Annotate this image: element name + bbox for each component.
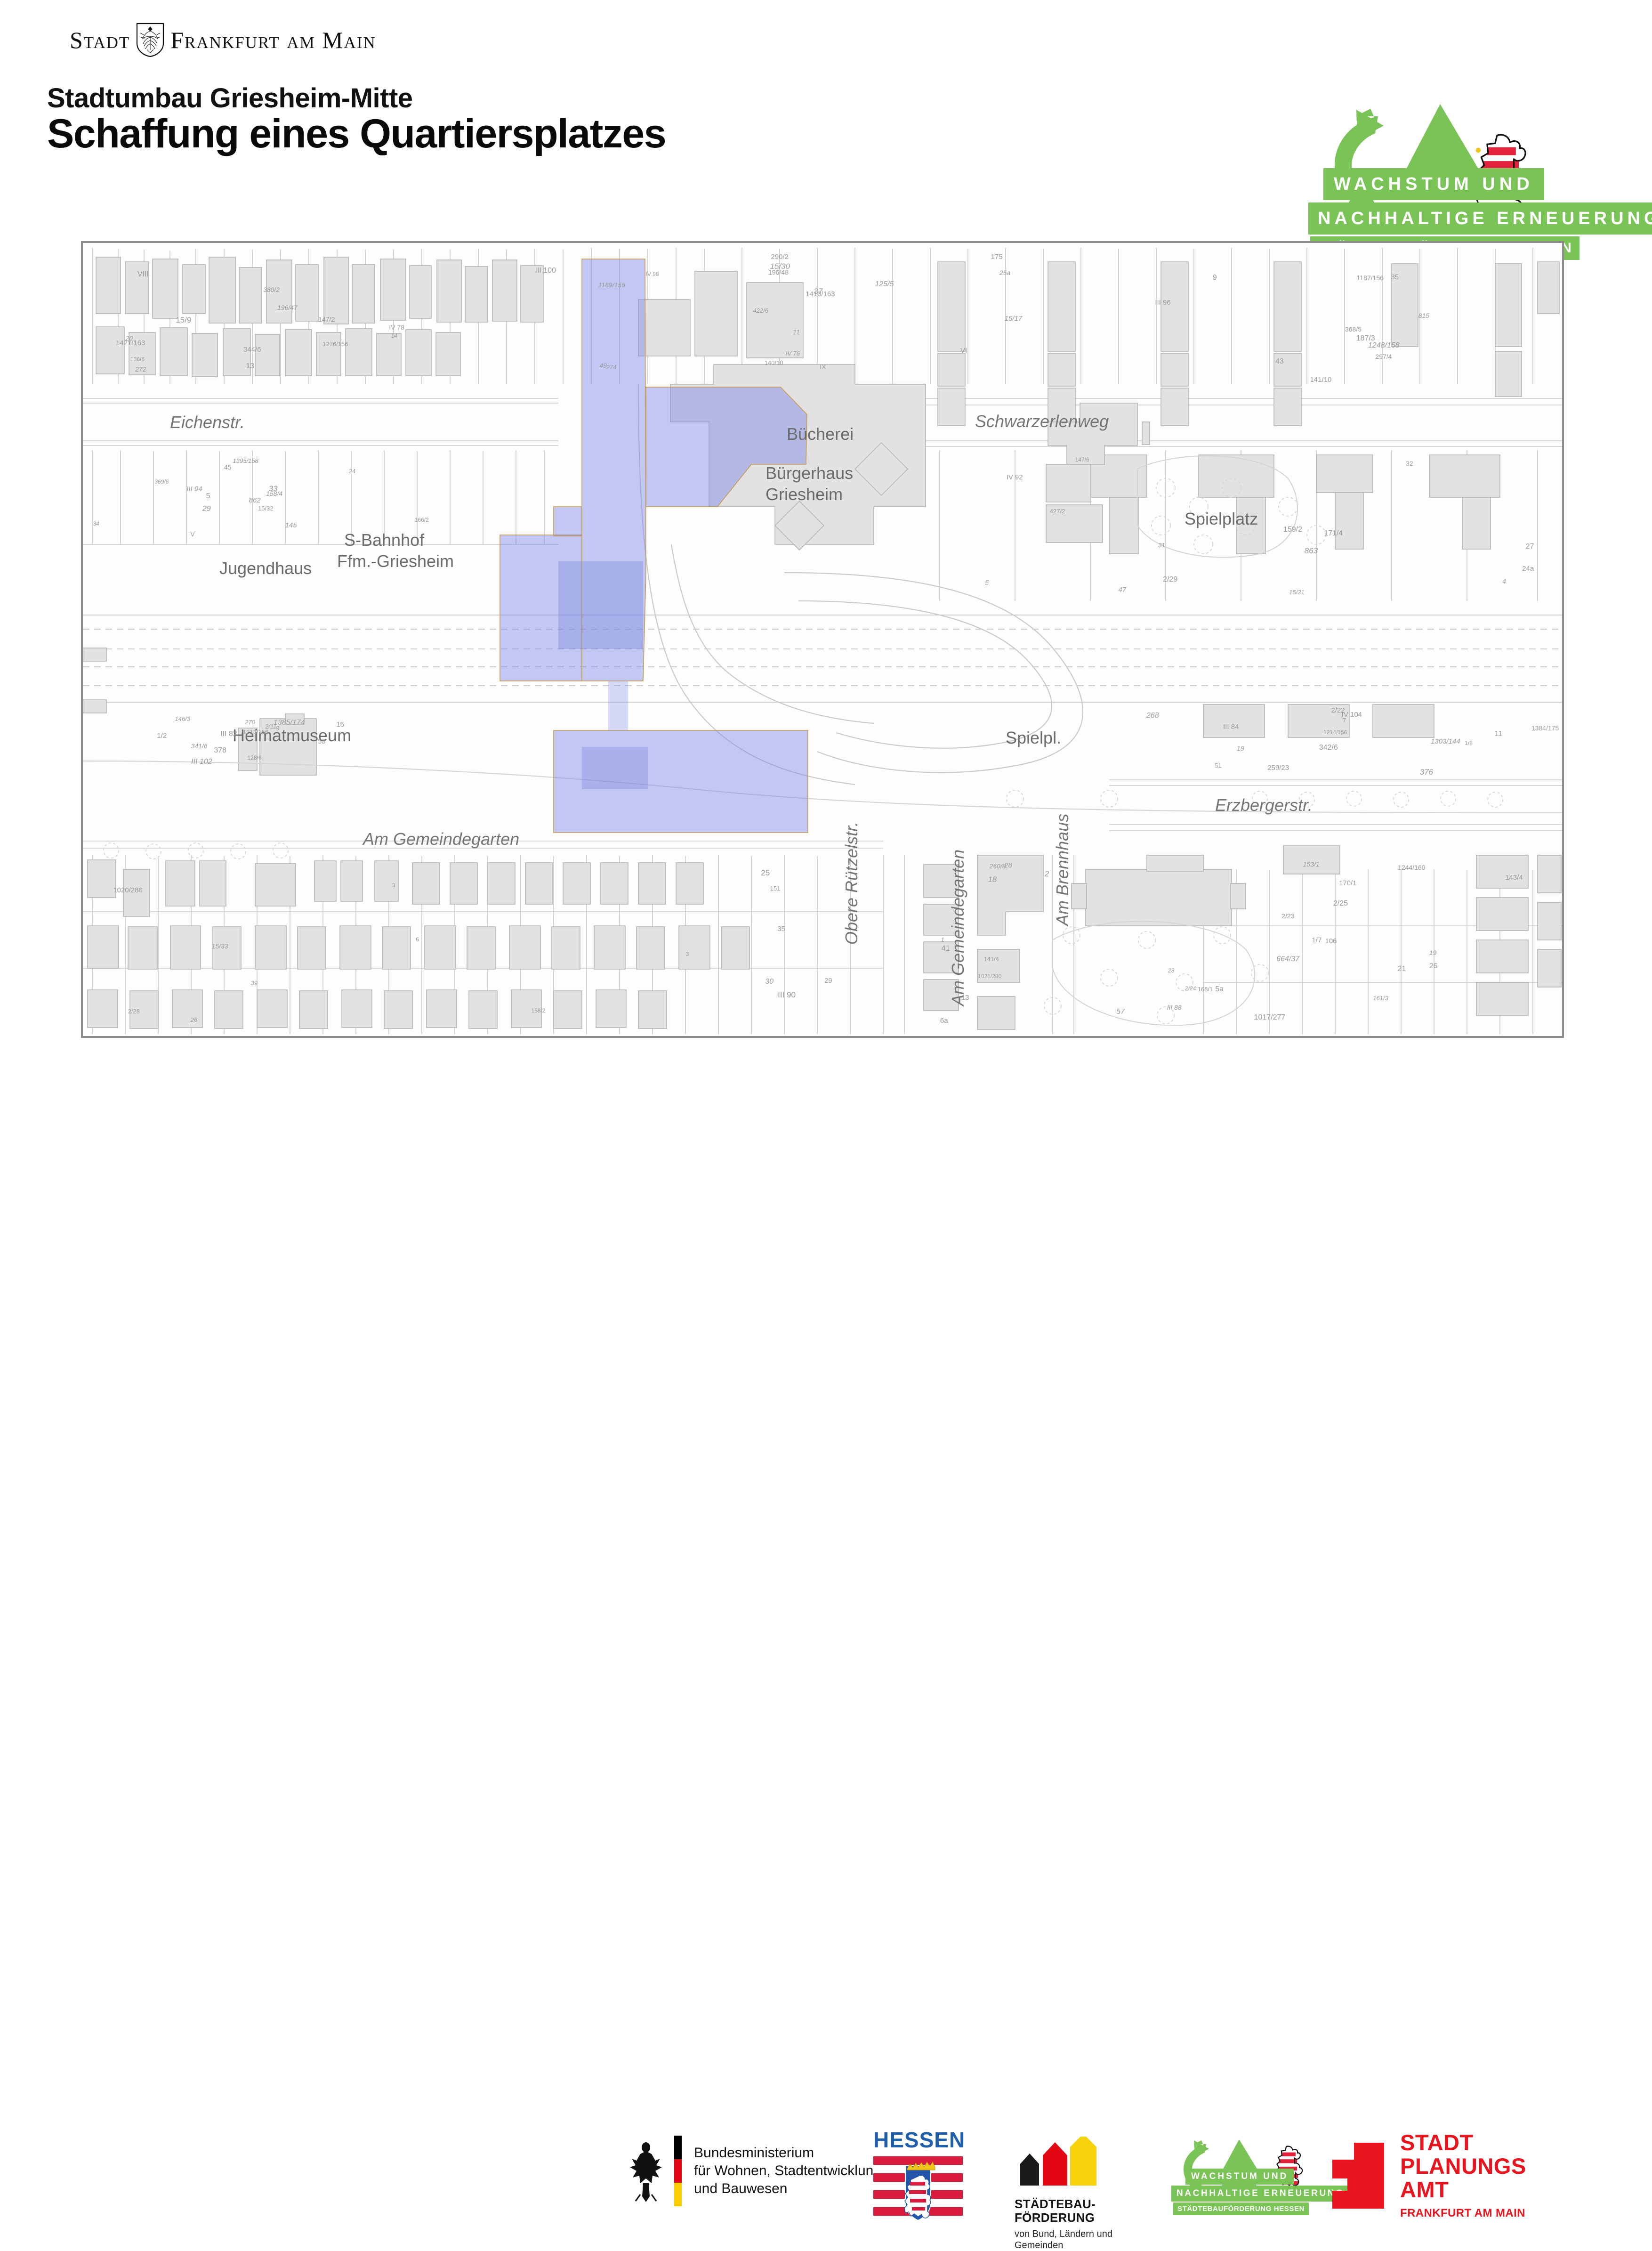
frankfurt-eagle-crest-icon	[136, 23, 165, 57]
program-logo-small-line2: NACHHALTIGE ERNEUERUNG	[1171, 2186, 1349, 2202]
staedtebau-sub2: Gemeinden	[1015, 2240, 1112, 2251]
site-plan-map[interactable]: Eichenstr. Schwarzerlenweg Erzbergerstr.…	[81, 241, 1564, 1038]
page-title: Schaffung eines Quartiersplatzes	[47, 111, 666, 157]
poster-kicker: Stadtumbau Griesheim-Mitte	[47, 82, 413, 114]
bmwsb-line3: und Bauwesen	[694, 2180, 881, 2198]
staedtebau-text: STÄDTEBAU- FÖRDERUNG	[1015, 2197, 1112, 2225]
program-logo-line1: WACHSTUM UND	[1323, 168, 1544, 200]
spa-line2: PLANUNGS	[1400, 2154, 1526, 2178]
city-wordmark: Stadt Frankfurt am Main	[70, 23, 376, 57]
poster-header: Stadt Frankfurt am Main Stadtumbau Gries…	[0, 0, 1652, 235]
city-wordmark-right: Frankfurt am Main	[170, 28, 376, 52]
city-wordmark-left: Stadt	[70, 28, 130, 52]
spa-line1: STADT	[1400, 2131, 1526, 2154]
staedtebaufoerderung-logo: STÄDTEBAU- FÖRDERUNG von Bund, Ländern u…	[1015, 2137, 1112, 2251]
german-flag-bar	[674, 2136, 682, 2206]
program-logo-line2: NACHHALTIGE ERNEUERUNG	[1308, 202, 1652, 235]
spa-subline: FRANKFURT AM MAIN	[1400, 2207, 1526, 2220]
bmwsb-logo: Bundesministerium für Wohnen, Stadtentwi…	[626, 2136, 881, 2206]
staedtebau-line2: FÖRDERUNG	[1015, 2211, 1112, 2225]
three-houses-icon	[1015, 2137, 1099, 2188]
bmwsb-text: Bundesministerium für Wohnen, Stadtentwi…	[694, 2144, 881, 2197]
staedtebau-subtext: von Bund, Ländern und Gemeinden	[1015, 2228, 1112, 2251]
staedtebau-line1: STÄDTEBAU-	[1015, 2197, 1112, 2211]
hessen-logo: HESSEN	[873, 2127, 963, 2224]
program-logo-small: WACHSTUM UND NACHHALTIGE ERNEUERUNG STÄD…	[1168, 2132, 1356, 2221]
hessen-wordmark: HESSEN	[873, 2127, 963, 2153]
program-logo-small-line1: WACHSTUM UND	[1185, 2169, 1294, 2185]
map-vector-layer	[83, 243, 1562, 1036]
staedtebau-sub1: von Bund, Ländern und	[1015, 2228, 1112, 2240]
poster-footer: Bundesministerium für Wohnen, Stadtentwi…	[0, 1062, 1652, 1168]
program-logo-small-line3: STÄDTEBAUFÖRDERUNG HESSEN	[1173, 2202, 1309, 2215]
bmwsb-line2: für Wohnen, Stadtentwicklung	[694, 2162, 881, 2180]
stadtplanungsamt-block-icon	[1332, 2143, 1384, 2209]
spa-line3: AMT	[1400, 2178, 1526, 2202]
bundesadler-icon	[626, 2138, 666, 2204]
bmwsb-line1: Bundesministerium	[694, 2144, 881, 2162]
hessen-flag-lion-icon	[873, 2155, 963, 2221]
stadtplanungsamt-logo: STADT PLANUNGS AMT FRANKFURT AM MAIN	[1332, 2131, 1526, 2220]
stadtplanungsamt-text: STADT PLANUNGS AMT FRANKFURT AM MAIN	[1400, 2131, 1526, 2220]
